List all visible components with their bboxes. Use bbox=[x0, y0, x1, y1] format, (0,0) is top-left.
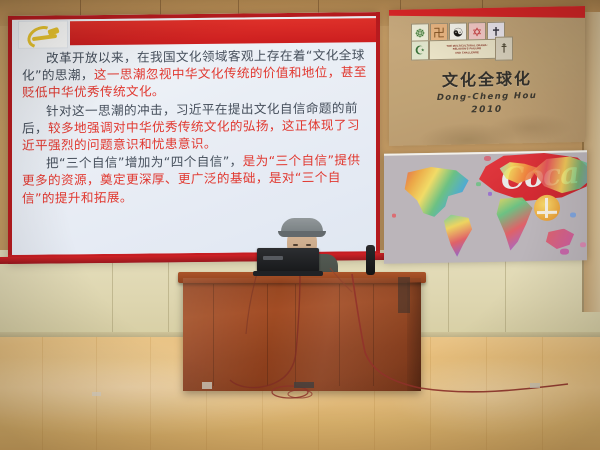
islamic-crescent-icon: ☪ bbox=[411, 40, 429, 60]
africa-continent bbox=[492, 197, 538, 252]
south-america-continent bbox=[436, 214, 480, 259]
black-laptop bbox=[253, 248, 323, 274]
slide-paragraph-1: 改革开放以来，在我国文化领域客观上存在着“文化全球化”的思潮，这一思潮忽视中华文… bbox=[22, 46, 368, 101]
cpc-hammer-sickle-emblem-icon bbox=[26, 24, 60, 44]
slide-logo-box bbox=[18, 20, 68, 49]
slide-header bbox=[12, 16, 376, 48]
lecture-hall-photo: 改革开放以来，在我国文化领域客观上存在着“文化全球化”的思潮，这一思潮忽视中华文… bbox=[0, 0, 600, 450]
orthodox-cross-icon: ☨ bbox=[495, 36, 513, 60]
coke-map-projection-screen: Coca bbox=[384, 150, 587, 264]
religion-symbols-row-bottom: ☪ THE MULTICULTURAL DRAMA: RELIGION'S FA… bbox=[411, 39, 505, 61]
title-projection-screen: ☸ 卍 ☯ ✡ ✝ ☪ THE MULTICULTURAL DRAMA: REL… bbox=[389, 6, 585, 146]
slide-paragraph-2: 针对这一思潮的冲击，习近平在提出文化自信命题的前后，较多地强调对中华优秀传统文化… bbox=[22, 99, 368, 154]
coke-emblem-icon bbox=[534, 195, 560, 221]
title-slide-caption: THE MULTICULTURAL DRAMA: RELIGION'S FAIL… bbox=[429, 39, 505, 61]
presenter-cap-brim bbox=[278, 231, 326, 237]
slide-paragraph-3: 把“三个自信”增加为“四个自信”，是为“三个自信”提供更多的资源，奠定更深厚、更… bbox=[22, 151, 368, 206]
title-slide-heading: 文化全球化 bbox=[389, 64, 585, 92]
desk-microphone bbox=[366, 245, 375, 275]
australia-continent bbox=[544, 228, 576, 251]
caption-line-3: AND CHALLENGE bbox=[455, 51, 479, 55]
slide-right-border bbox=[376, 12, 380, 260]
slide-header-red-bar bbox=[70, 18, 376, 45]
wooden-lectern bbox=[183, 278, 421, 391]
